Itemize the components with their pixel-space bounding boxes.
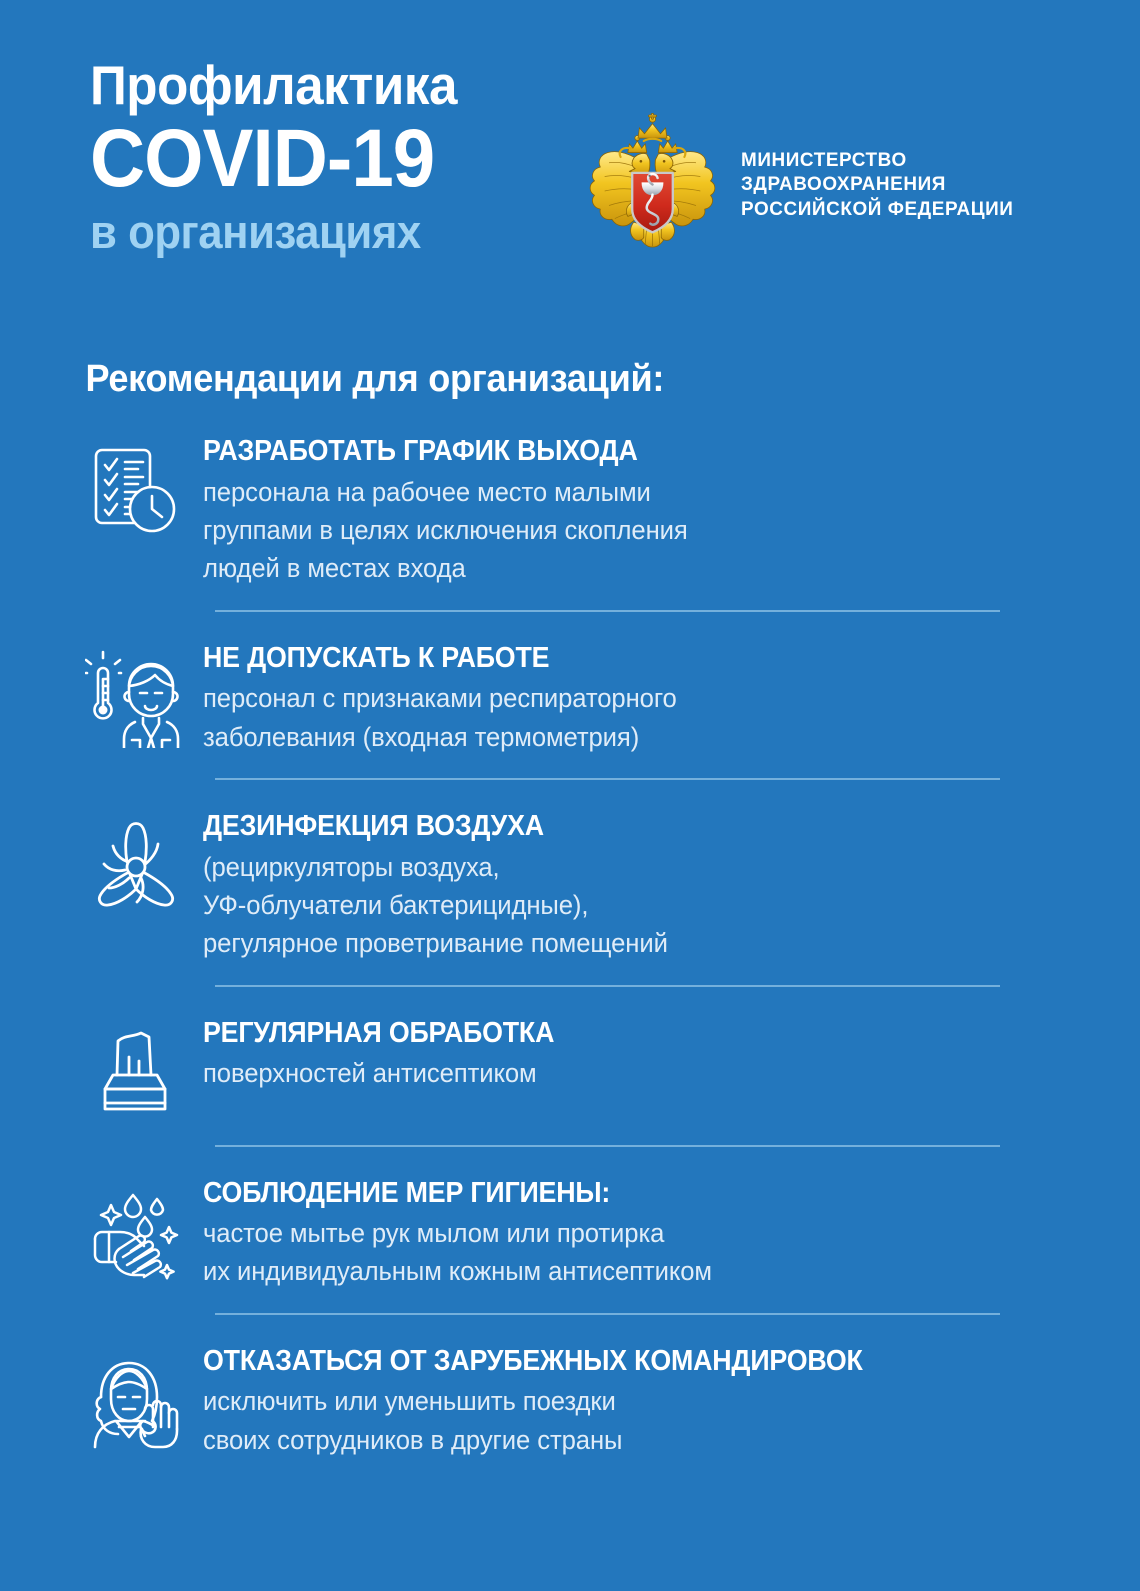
text-slot: ДЕЗИНФЕКЦИЯ ВОЗДУХА (рециркуляторы возду…	[203, 806, 1080, 963]
recommendation-body: (рециркуляторы воздуха, УФ-облучатели ба…	[203, 848, 1036, 963]
spacer	[0, 1123, 1140, 1145]
icon-slot	[85, 1341, 203, 1451]
spacer	[0, 1315, 1140, 1341]
icon-slot	[85, 638, 203, 748]
recommendation-title: РАЗРАБОТАТЬ ГРАФИК ВЫХОДА	[203, 435, 1027, 469]
recommendation-body: поверхностей антисептиком	[203, 1054, 1036, 1092]
icon-slot	[85, 1013, 203, 1123]
spacer	[0, 612, 1140, 638]
fan-propeller-icon	[85, 816, 185, 916]
recommendation-item: СОБЛЮДЕНИЕ МЕР ГИГИЕНЫ: частое мытье рук…	[0, 1173, 1140, 1291]
thermometer-person-icon	[85, 648, 185, 748]
ministry-name: МИНИСТЕРСТВО ЗДРАВООХРАНЕНИЯ РОССИЙСКОЙ …	[741, 148, 1013, 222]
spacer	[0, 588, 1140, 610]
recommendation-body: персонал с признаками респираторного заб…	[203, 679, 1036, 756]
recommendation-item: НЕ ДОПУСКАТЬ К РАБОТЕ персонал с признак…	[0, 638, 1140, 756]
ministry-line-1: МИНИСТЕРСТВО	[741, 148, 1013, 173]
recommendation-item: ОТКАЗАТЬСЯ ОТ ЗАРУБЕЖНЫХ КОМАНДИРОВОК ис…	[0, 1341, 1140, 1459]
ministry-line-3: РОССИЙСКОЙ ФЕДЕРАЦИИ	[741, 197, 1013, 222]
russian-coat-of-arms-health-ministry-emblem	[580, 112, 725, 257]
recommendation-title: ДЕЗИНФЕКЦИЯ ВОЗДУХА	[203, 810, 1027, 844]
recommendation-item: РАЗРАБОТАТЬ ГРАФИК ВЫХОДА персонала на р…	[0, 431, 1140, 588]
recommendation-title: РЕГУЛЯРНАЯ ОБРАБОТКА	[203, 1017, 1027, 1051]
text-slot: НЕ ДОПУСКАТЬ К РАБОТЕ персонал с признак…	[203, 638, 1080, 756]
icon-slot	[85, 806, 203, 916]
ministry-logo-block: МИНИСТЕРСТВО ЗДРАВООХРАНЕНИЯ РОССИЙСКОЙ …	[580, 112, 1022, 257]
poster-title-line-3: в организациях	[90, 207, 443, 256]
washing-hands-icon	[85, 1183, 185, 1283]
spacer	[0, 963, 1140, 985]
recommendation-item: ДЕЗИНФЕКЦИЯ ВОЗДУХА (рециркуляторы возду…	[0, 806, 1140, 963]
poster-title-line-1: Профилактика	[90, 58, 443, 113]
icon-slot	[85, 1173, 203, 1283]
icon-slot	[85, 431, 203, 541]
text-slot: РЕГУЛЯРНАЯ ОБРАБОТКА поверхностей антисе…	[203, 1013, 1080, 1093]
tissue-box-icon	[85, 1023, 185, 1123]
recommendation-title: СОБЛЮДЕНИЕ МЕР ГИГИЕНЫ:	[203, 1177, 1027, 1211]
text-slot: СОБЛЮДЕНИЕ МЕР ГИГИЕНЫ: частое мытье рук…	[203, 1173, 1080, 1291]
title-block: Профилактика COVID-19 в организациях	[0, 58, 470, 256]
recommendation-item: РЕГУЛЯРНАЯ ОБРАБОТКА поверхностей антисе…	[0, 1013, 1140, 1123]
recommendation-body: исключить или уменьшить поездки своих со…	[203, 1382, 1036, 1459]
person-raised-hand-stop-icon	[85, 1351, 185, 1451]
spacer	[0, 756, 1140, 778]
spacer	[0, 987, 1140, 1013]
clipboard-checklist-clock-icon	[85, 441, 185, 541]
shield	[632, 173, 673, 232]
poster-title-line-2: COVID-19	[90, 117, 443, 201]
spacer	[0, 1291, 1140, 1313]
spacer	[0, 780, 1140, 806]
poster-root: Профилактика COVID-19 в организациях	[0, 0, 1140, 1591]
recommendations-list: РАЗРАБОТАТЬ ГРАФИК ВЫХОДА персонала на р…	[0, 431, 1140, 1459]
section-heading: Рекомендации для организаций:	[0, 358, 1083, 401]
spacer	[0, 1147, 1140, 1173]
recommendation-title: ОТКАЗАТЬСЯ ОТ ЗАРУБЕЖНЫХ КОМАНДИРОВОК	[203, 1345, 1027, 1379]
ministry-line-2: ЗДРАВООХРАНЕНИЯ	[741, 172, 1013, 197]
poster-header: Профилактика COVID-19 в организациях	[0, 0, 1140, 260]
recommendation-title: НЕ ДОПУСКАТЬ К РАБОТЕ	[203, 642, 1027, 676]
recommendation-body: персонала на рабочее место малыми группа…	[203, 473, 1036, 588]
text-slot: ОТКАЗАТЬСЯ ОТ ЗАРУБЕЖНЫХ КОМАНДИРОВОК ис…	[203, 1341, 1080, 1459]
text-slot: РАЗРАБОТАТЬ ГРАФИК ВЫХОДА персонала на р…	[203, 431, 1080, 588]
recommendation-body: частое мытье рук мылом или протирка их и…	[203, 1214, 1036, 1291]
